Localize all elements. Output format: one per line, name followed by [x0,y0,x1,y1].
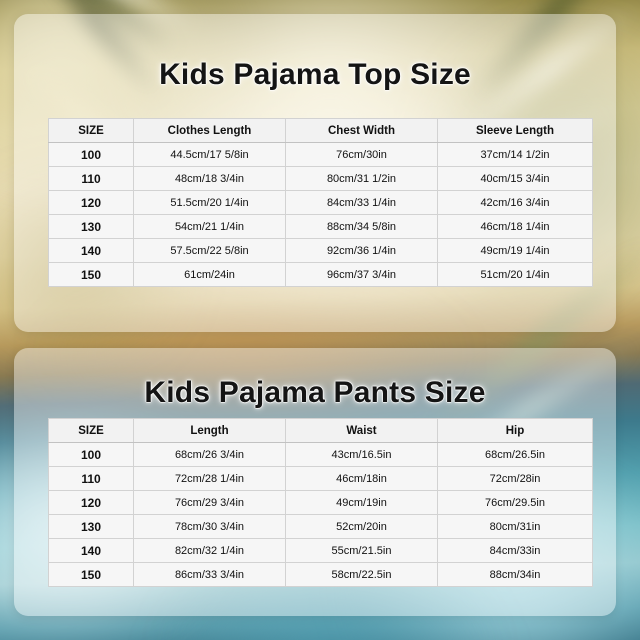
cell-waist: 43cm/16.5in [286,443,438,467]
table-row: 150 86cm/33 3/4in 58cm/22.5in 88cm/34in [49,563,593,587]
table-row: 140 82cm/32 1/4in 55cm/21.5in 84cm/33in [49,539,593,563]
cell-size: 110 [49,167,134,191]
pajama-top-size-table: SIZE Clothes Length Chest Width Sleeve L… [48,118,593,287]
cell-chest-width: 96cm/37 3/4in [286,263,438,287]
column-header-size: SIZE [49,419,134,443]
cell-hip: 88cm/34in [438,563,593,587]
table-row: 120 76cm/29 3/4in 49cm/19in 76cm/29.5in [49,491,593,515]
table-row: 150 61cm/24in 96cm/37 3/4in 51cm/20 1/4i… [49,263,593,287]
cell-hip: 84cm/33in [438,539,593,563]
cell-length: 78cm/30 3/4in [134,515,286,539]
cell-size: 100 [49,143,134,167]
cell-clothes-length: 57.5cm/22 5/8in [134,239,286,263]
cell-size: 130 [49,515,134,539]
cell-chest-width: 80cm/31 1/2in [286,167,438,191]
cell-clothes-length: 51.5cm/20 1/4in [134,191,286,215]
cell-sleeve-length: 40cm/15 3/4in [438,167,593,191]
cell-length: 76cm/29 3/4in [134,491,286,515]
cell-size: 150 [49,563,134,587]
cell-size: 140 [49,539,134,563]
cell-length: 82cm/32 1/4in [134,539,286,563]
column-header-size: SIZE [49,119,134,143]
cell-chest-width: 76cm/30in [286,143,438,167]
pajama-top-size-panel: Kids Pajama Top Size SIZE Clothes Length… [14,14,616,332]
table-row: 140 57.5cm/22 5/8in 92cm/36 1/4in 49cm/1… [49,239,593,263]
table-header-row: SIZE Clothes Length Chest Width Sleeve L… [49,119,593,143]
pajama-pants-size-title: Kids Pajama Pants Size [14,348,616,410]
cell-size: 130 [49,215,134,239]
table-row: 100 68cm/26 3/4in 43cm/16.5in 68cm/26.5i… [49,443,593,467]
column-header-clothes-length: Clothes Length [134,119,286,143]
cell-size: 120 [49,191,134,215]
pajama-pants-size-panel: Kids Pajama Pants Size SIZE Length Waist… [14,348,616,616]
cell-sleeve-length: 37cm/14 1/2in [438,143,593,167]
cell-chest-width: 84cm/33 1/4in [286,191,438,215]
cell-chest-width: 92cm/36 1/4in [286,239,438,263]
table-row: 130 78cm/30 3/4in 52cm/20in 80cm/31in [49,515,593,539]
cell-length: 68cm/26 3/4in [134,443,286,467]
table-row: 130 54cm/21 1/4in 88cm/34 5/8in 46cm/18 … [49,215,593,239]
cell-clothes-length: 54cm/21 1/4in [134,215,286,239]
pajama-pants-size-table: SIZE Length Waist Hip 100 68cm/26 3/4in … [48,418,593,587]
cell-size: 150 [49,263,134,287]
cell-clothes-length: 44.5cm/17 5/8in [134,143,286,167]
cell-hip: 76cm/29.5in [438,491,593,515]
cell-size: 120 [49,491,134,515]
column-header-chest-width: Chest Width [286,119,438,143]
cell-sleeve-length: 42cm/16 3/4in [438,191,593,215]
cell-chest-width: 88cm/34 5/8in [286,215,438,239]
cell-waist: 49cm/19in [286,491,438,515]
column-header-sleeve-length: Sleeve Length [438,119,593,143]
cell-clothes-length: 61cm/24in [134,263,286,287]
cell-hip: 68cm/26.5in [438,443,593,467]
cell-sleeve-length: 46cm/18 1/4in [438,215,593,239]
cell-length: 72cm/28 1/4in [134,467,286,491]
cell-sleeve-length: 51cm/20 1/4in [438,263,593,287]
cell-sleeve-length: 49cm/19 1/4in [438,239,593,263]
cell-waist: 52cm/20in [286,515,438,539]
cell-hip: 72cm/28in [438,467,593,491]
cell-hip: 80cm/31in [438,515,593,539]
cell-size: 110 [49,467,134,491]
cell-clothes-length: 48cm/18 3/4in [134,167,286,191]
cell-size: 140 [49,239,134,263]
cell-length: 86cm/33 3/4in [134,563,286,587]
column-header-length: Length [134,419,286,443]
table-row: 110 72cm/28 1/4in 46cm/18in 72cm/28in [49,467,593,491]
column-header-waist: Waist [286,419,438,443]
table-header-row: SIZE Length Waist Hip [49,419,593,443]
cell-size: 100 [49,443,134,467]
cell-waist: 55cm/21.5in [286,539,438,563]
cell-waist: 46cm/18in [286,467,438,491]
table-row: 120 51.5cm/20 1/4in 84cm/33 1/4in 42cm/1… [49,191,593,215]
cell-waist: 58cm/22.5in [286,563,438,587]
table-row: 100 44.5cm/17 5/8in 76cm/30in 37cm/14 1/… [49,143,593,167]
column-header-hip: Hip [438,419,593,443]
table-row: 110 48cm/18 3/4in 80cm/31 1/2in 40cm/15 … [49,167,593,191]
pajama-top-size-title: Kids Pajama Top Size [14,14,616,92]
